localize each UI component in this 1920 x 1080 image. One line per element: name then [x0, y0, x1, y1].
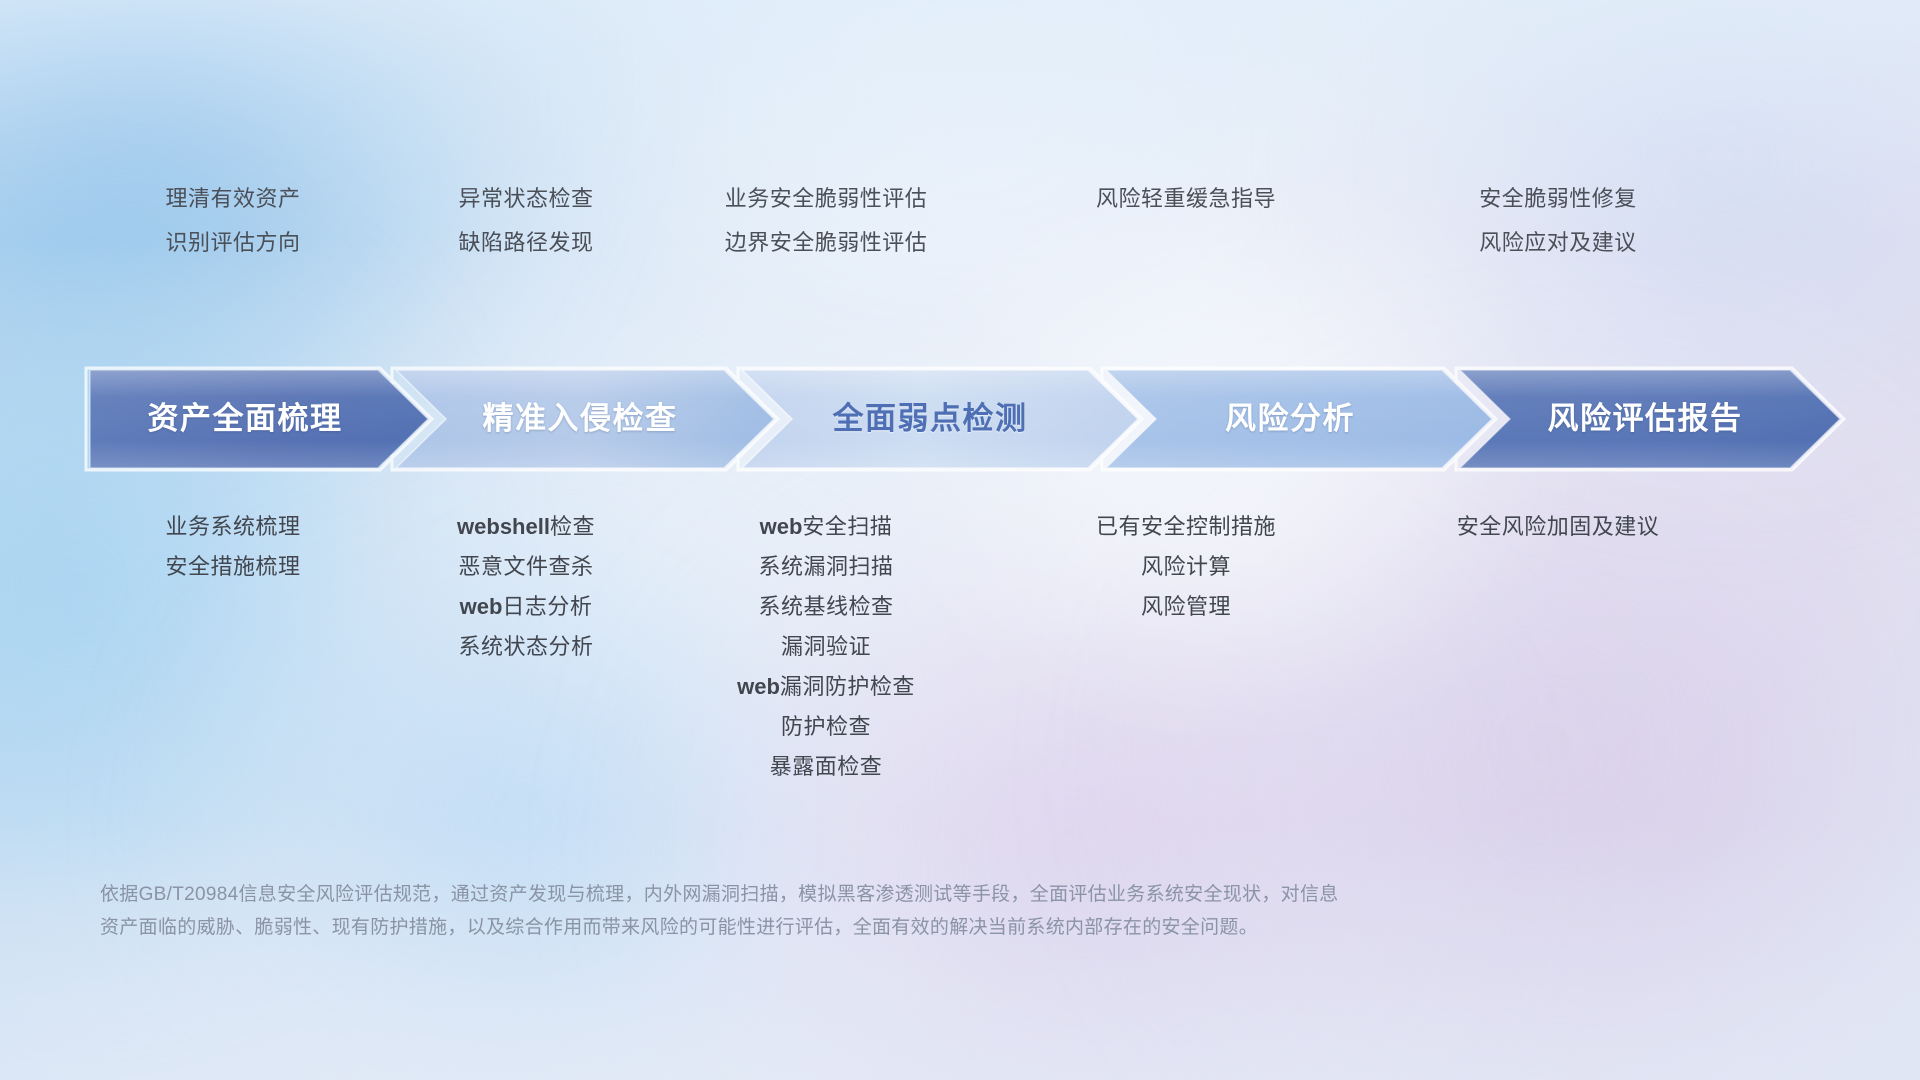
- stage-top-item: 安全脆弱性修复: [1388, 188, 1728, 210]
- stage-title-risk-analysis[interactable]: 风险分析: [1120, 366, 1460, 472]
- emphasis-text: web: [460, 594, 503, 619]
- stage-top-item: 缺陷路径发现: [376, 232, 676, 254]
- stage-bottom-items-weakness-detection: web安全扫描系统漏洞扫描系统基线检查漏洞验证web漏洞防护检查防护检查暴露面检…: [640, 516, 1012, 778]
- stage-bottom-item: 恶意文件查杀: [376, 556, 676, 578]
- stage-bottom-items-risk-analysis: 已有安全控制措施风险计算风险管理: [1026, 516, 1346, 618]
- stage-bottom-item: 系统漏洞扫描: [640, 556, 1012, 578]
- stage-title-assessment-report[interactable]: 风险评估报告: [1470, 366, 1820, 472]
- stage-title-weakness-detection[interactable]: 全面弱点检测: [760, 366, 1100, 472]
- stage-bottom-item: web安全扫描: [640, 516, 1012, 538]
- footer-description: 依据GB/T20984信息安全风险评估规范，通过资产发现与梳理，内外网漏洞扫描，…: [100, 878, 1630, 944]
- stage-top-items-assessment-report: 安全脆弱性修复风险应对及建议: [1388, 188, 1728, 254]
- stage-bottom-item: 已有安全控制措施: [1026, 516, 1346, 538]
- stage-bottom-item: 风险计算: [1026, 556, 1346, 578]
- stage-title-asset-inventory[interactable]: 资产全面梳理: [90, 366, 400, 472]
- stage-bottom-item: 安全措施梳理: [90, 556, 376, 578]
- stage-top-items-asset-inventory: 理清有效资产识别评估方向: [90, 188, 376, 254]
- stage-bottom-item: 业务系统梳理: [90, 516, 376, 538]
- footer-line-2: 资产面临的威胁、脆弱性、现有防护措施，以及综合作用而带来风险的可能性进行评估，全…: [100, 911, 1630, 944]
- stage-top-item: 理清有效资产: [90, 188, 376, 210]
- stage-bottom-items-assessment-report: 安全风险加固及建议: [1388, 516, 1728, 538]
- stage-top-item: 识别评估方向: [90, 232, 376, 254]
- stage-bottom-item: web漏洞防护检查: [640, 676, 1012, 698]
- stage-title-intrusion-check[interactable]: 精准入侵检查: [410, 366, 750, 472]
- stage-bottom-item: 安全风险加固及建议: [1388, 516, 1728, 538]
- stage-bottom-item: 系统状态分析: [376, 636, 676, 658]
- stage-bottom-item: 风险管理: [1026, 596, 1346, 618]
- emphasis-text: webshell: [457, 514, 550, 539]
- stage-bottom-item: 漏洞验证: [640, 636, 1012, 658]
- stage-bottom-item: 防护检查: [640, 716, 1012, 738]
- stage-top-items-risk-analysis: 风险轻重缓急指导: [1026, 188, 1346, 210]
- stage-top-item: 风险应对及建议: [1388, 232, 1728, 254]
- emphasis-text: web: [737, 674, 780, 699]
- stage-bottom-item: 系统基线检查: [640, 596, 1012, 618]
- stage-bottom-item: web日志分析: [376, 596, 676, 618]
- process-diagram: 理清有效资产识别评估方向 异常状态检查缺陷路径发现 业务安全脆弱性评估边界安全脆…: [0, 0, 1920, 1080]
- stage-top-item: 异常状态检查: [376, 188, 676, 210]
- stage-top-item: 风险轻重缓急指导: [1026, 188, 1346, 210]
- stage-bottom-items-asset-inventory: 业务系统梳理安全措施梳理: [90, 516, 376, 578]
- stage-bottom-item: 暴露面检查: [640, 756, 1012, 778]
- stage-top-item: 边界安全脆弱性评估: [640, 232, 1012, 254]
- footer-line-1: 依据GB/T20984信息安全风险评估规范，通过资产发现与梳理，内外网漏洞扫描，…: [100, 878, 1630, 911]
- stage-top-items-weakness-detection: 业务安全脆弱性评估边界安全脆弱性评估: [640, 188, 1012, 254]
- stage-top-item: 业务安全脆弱性评估: [640, 188, 1012, 210]
- stage-bottom-item: webshell检查: [376, 516, 676, 538]
- emphasis-text: web: [760, 514, 803, 539]
- stage-top-items-intrusion-check: 异常状态检查缺陷路径发现: [376, 188, 676, 254]
- stage-bottom-items-intrusion-check: webshell检查恶意文件查杀web日志分析系统状态分析: [376, 516, 676, 658]
